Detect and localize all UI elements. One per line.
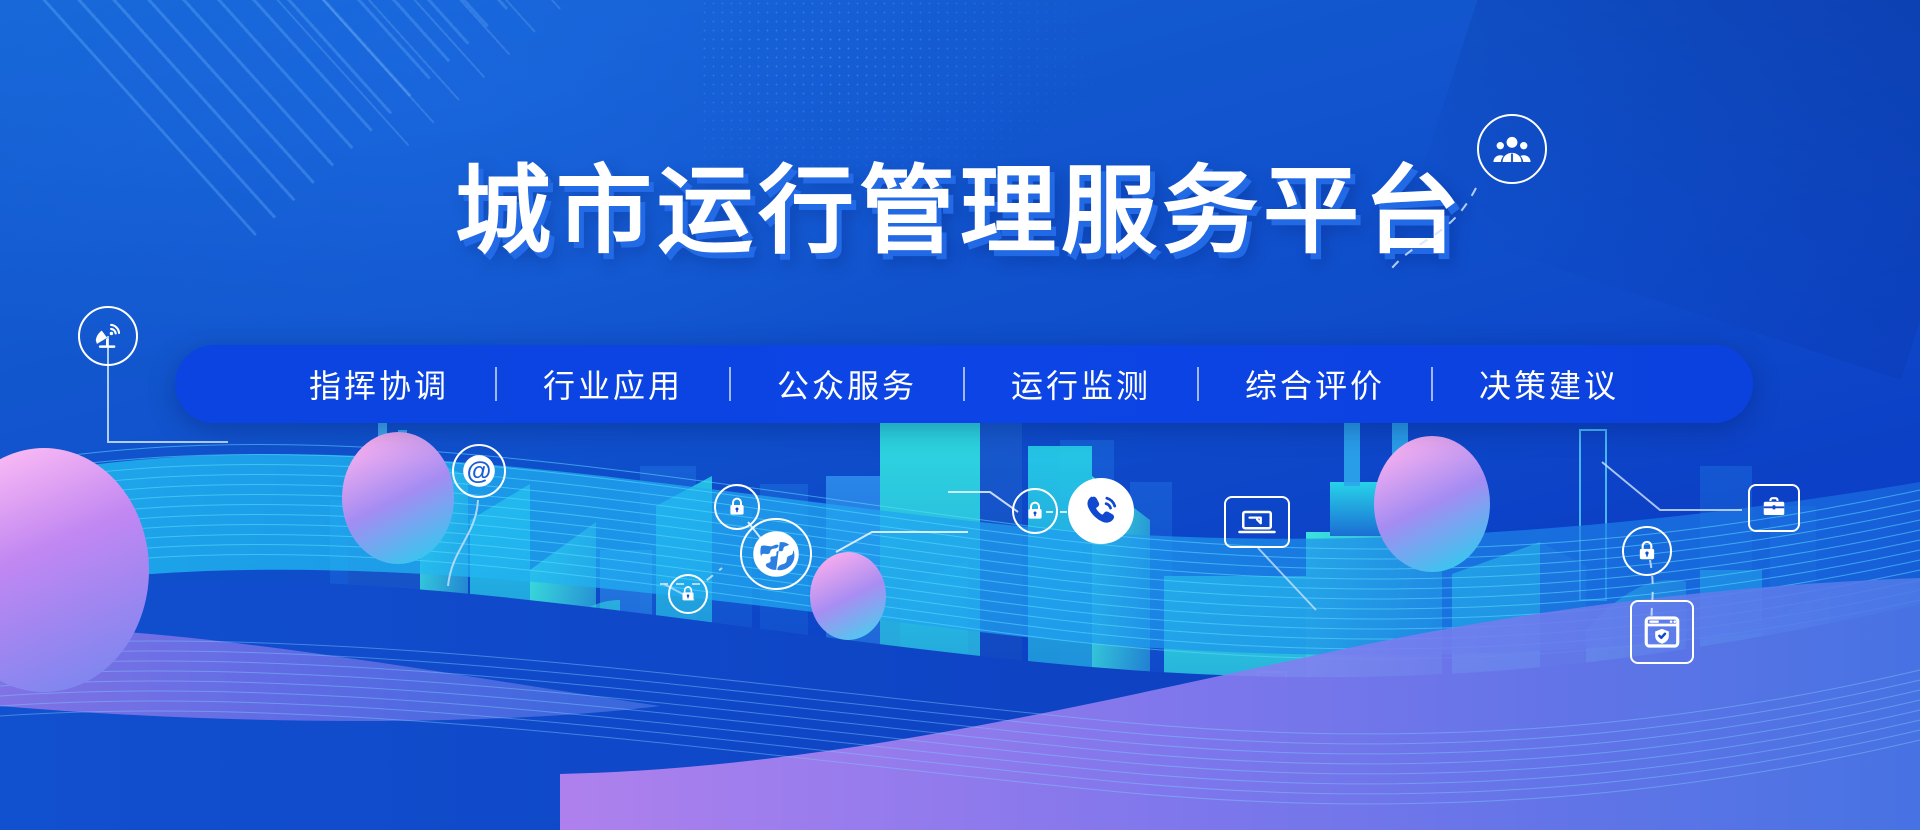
- page-title: 城市运行管理服务平台: [455, 160, 1465, 264]
- globe-icon[interactable]: [740, 518, 812, 590]
- lock-icon[interactable]: [714, 484, 760, 530]
- nav-item-gongzhong-fuwu[interactable]: 公众服务: [731, 361, 963, 407]
- lock-icon[interactable]: [1622, 526, 1672, 576]
- phone-call-icon[interactable]: [1068, 478, 1134, 544]
- sphere-decoration-right: [1374, 436, 1490, 572]
- nav-item-yunxing-jiance[interactable]: 运行监测: [965, 361, 1197, 407]
- city-platform-banner: 城市运行管理服务平台: [0, 0, 1920, 830]
- lock-icon[interactable]: [1012, 488, 1058, 534]
- satellite-dish-icon[interactable]: [78, 306, 138, 366]
- lock-icon[interactable]: [668, 574, 708, 614]
- sphere-decoration-mid: [342, 432, 454, 564]
- at-sign-icon[interactable]: @: [452, 444, 506, 498]
- wave-decoration: [0, 370, 1920, 830]
- diagonal-stripes-decoration: [0, 0, 834, 236]
- nav-item-hangye-yingyong[interactable]: 行业应用: [497, 361, 729, 407]
- people-group-icon[interactable]: [1477, 114, 1547, 184]
- nav-item-juece-jianyi[interactable]: 决策建议: [1433, 361, 1665, 407]
- nav-item-zonghe-pingjia[interactable]: 综合评价: [1199, 361, 1431, 407]
- briefcase-icon[interactable]: [1748, 484, 1800, 532]
- svg-text:@: @: [467, 458, 492, 486]
- diagonal-stripes-decoration-secondary: [60, 0, 869, 146]
- laptop-icon[interactable]: [1224, 496, 1290, 548]
- main-navigation-bar[interactable]: 指挥协调 行业应用 公众服务 运行监测 综合评价 决策建议: [175, 345, 1753, 423]
- browser-shield-icon[interactable]: [1630, 600, 1694, 664]
- sphere-decoration-bottom: [810, 552, 886, 640]
- banner-title-wrap: 城市运行管理服务平台: [0, 160, 1920, 264]
- dot-pattern-decoration: [700, 0, 1120, 200]
- nav-item-zhihui-xietiao[interactable]: 指挥协调: [263, 361, 495, 407]
